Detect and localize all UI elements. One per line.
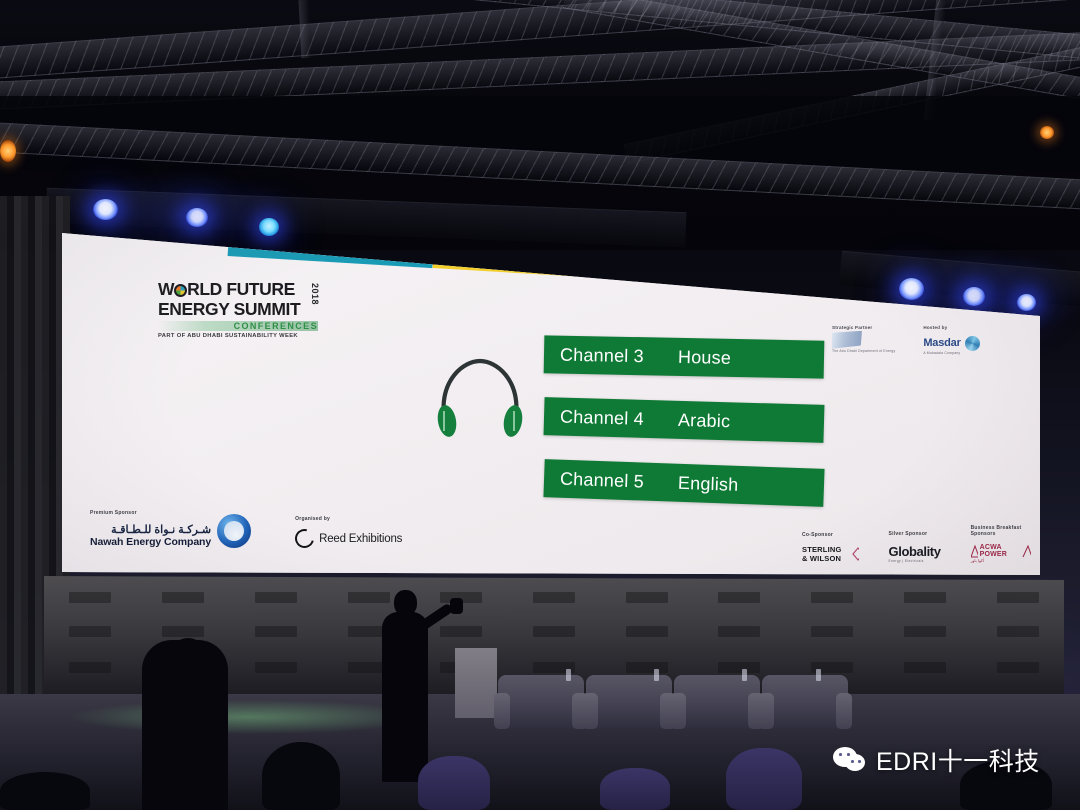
chair [498,675,584,729]
water-bottle [742,669,747,681]
stage-floor-highlight [70,700,430,734]
water-bottle [566,669,571,681]
water-bottle [816,669,821,681]
screen-vignette [62,233,1040,575]
chair [586,675,672,729]
dnv-gl-icon: DNV·GL [1049,549,1078,564]
watermark-label: EDRI十一科技 [876,742,1040,778]
color-bar-segment-orange [781,276,959,300]
chair [674,675,760,729]
audience-silhouette [0,772,90,810]
slide-surface: WRLD FUTURE ENERGY SUMMIT 2018 CONFERENC… [62,233,1040,575]
audience-head [168,638,208,682]
audience-silhouette [262,742,340,810]
panel-chairs [498,673,828,729]
projection-screen: WRLD FUTURE ENERGY SUMMIT 2018 CONFERENC… [62,233,1040,575]
presenter-silhouette [378,590,432,780]
audience-silhouette [726,748,802,810]
watermark: EDRI十一科技 [833,742,1040,778]
audience-silhouette [418,756,490,810]
wechat-icon [833,747,867,773]
audience-silhouette [600,768,670,810]
water-bottle [654,669,659,681]
photo-scene: WRLD FUTURE ENERGY SUMMIT 2018 CONFERENC… [0,0,1080,810]
sponsor-name-en: DNV·GL [1049,558,1078,563]
chair [762,675,848,729]
podium [455,648,497,718]
